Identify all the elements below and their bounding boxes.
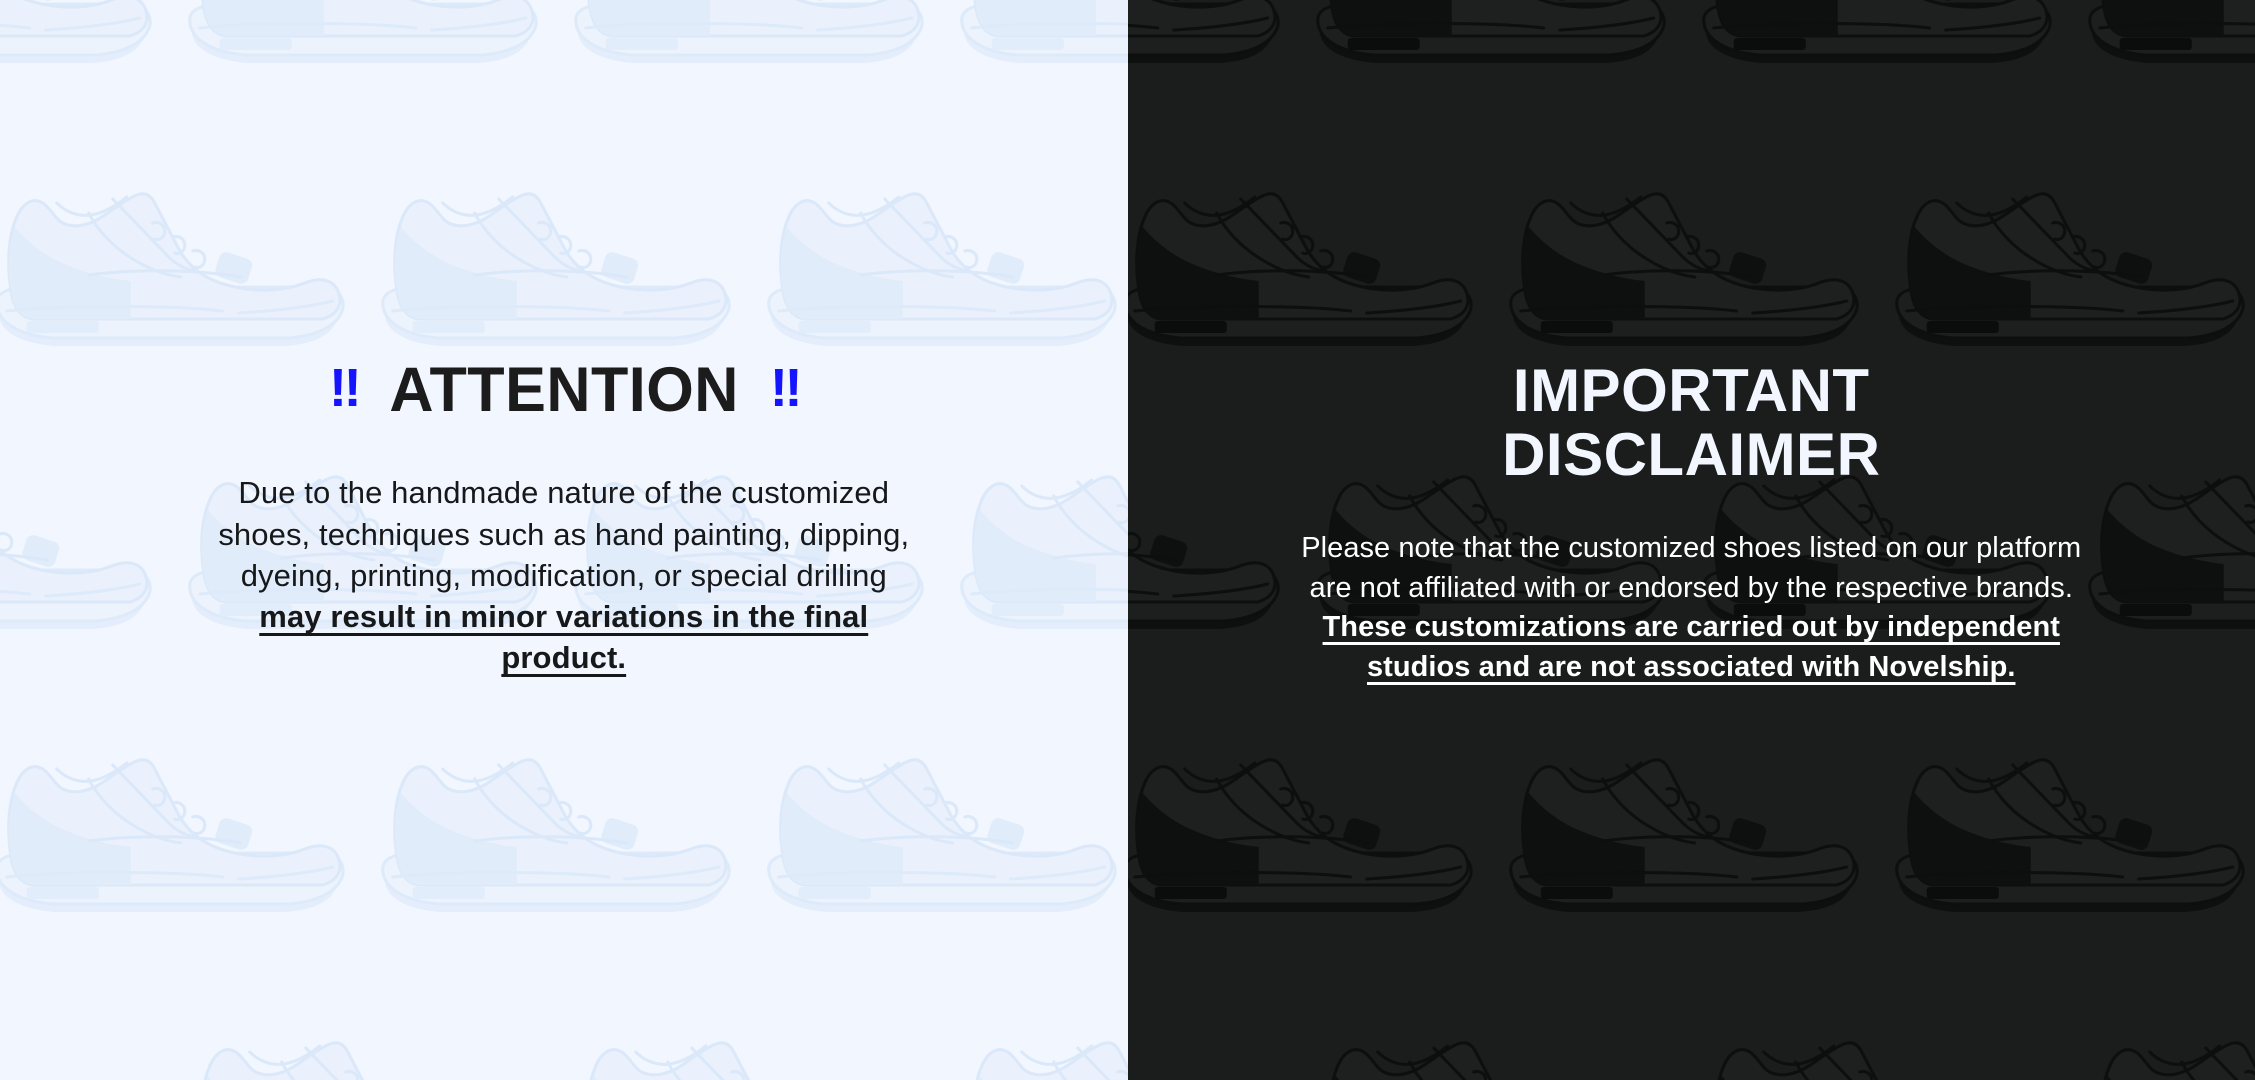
disclaimer-content: IMPORTANT DISCLAIMER Please note that th… (1241, 359, 2141, 687)
disclaimer-body-emphasis: These customizations are carried out by … (1323, 611, 2060, 682)
attention-body-emphasis: may result in minor variations in the fi… (259, 599, 868, 675)
attention-heading: ‼ ATTENTION ‼ (114, 359, 1014, 422)
attention-body: Due to the handmade nature of the custom… (214, 472, 914, 678)
double-exclamation-left-icon: ‼ (329, 361, 358, 415)
disclaimer-heading-line1: IMPORTANT (1513, 357, 1870, 424)
disclaimer-heading-line2: DISCLAIMER (1502, 421, 1880, 488)
disclaimer-body: Please note that the customized shoes li… (1291, 529, 2091, 687)
attention-panel: ‼ ATTENTION ‼ Due to the handmade nature… (0, 0, 1128, 1080)
attention-content: ‼ ATTENTION ‼ Due to the handmade nature… (114, 359, 1014, 678)
double-exclamation-right-icon: ‼ (770, 361, 799, 415)
attention-heading-text: ATTENTION (389, 359, 738, 422)
dual-panel-banner: ‼ ATTENTION ‼ Due to the handmade nature… (0, 0, 2255, 1080)
disclaimer-body-plain: Please note that the customized shoes li… (1301, 532, 2081, 603)
disclaimer-heading: IMPORTANT DISCLAIMER (1241, 359, 2141, 487)
disclaimer-panel: IMPORTANT DISCLAIMER Please note that th… (1128, 0, 2255, 1080)
attention-body-plain: Due to the handmade nature of the custom… (218, 475, 909, 592)
